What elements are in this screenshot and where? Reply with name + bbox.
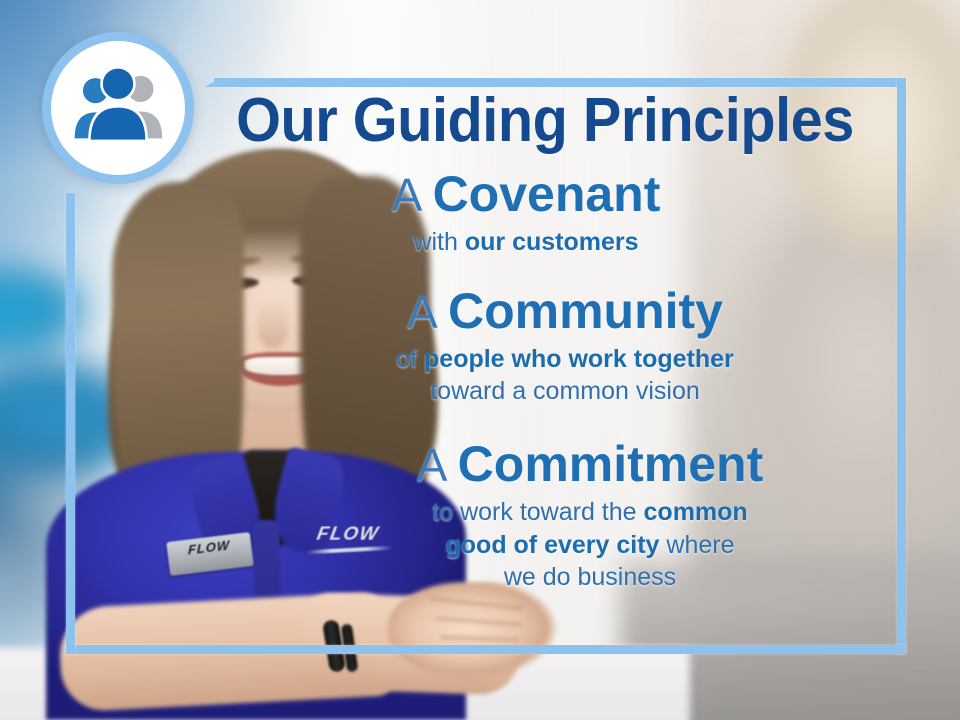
community-sub-line-2: toward a common vision [240, 375, 890, 407]
guiding-principles-graphic: FLOW FLOW Our Gui [0, 0, 960, 720]
principle-commitment-heading: A Commitment [290, 437, 890, 492]
group-of-people-badge [42, 32, 194, 184]
principle-community-article: A [407, 286, 448, 338]
clasped-hands [388, 582, 558, 678]
principle-community-subtext: of people who work together toward a com… [240, 343, 890, 407]
covenant-sub-regular: with [413, 228, 464, 256]
covenant-sub-bold: our customers [465, 228, 639, 256]
commitment-sub-line-2: good of every city where [290, 529, 890, 562]
group-of-people-icon [66, 56, 170, 160]
principle-commitment-article: A [417, 439, 458, 491]
community-sub-regular: of [396, 345, 424, 373]
principle-commitment: A Commitment to work toward the common g… [200, 437, 890, 594]
text-block: Our Guiding Principles A Covenant with o… [200, 88, 890, 594]
commitment-sub-regular-1: to work toward the [432, 498, 643, 526]
commitment-sub-bold-1: common [644, 498, 748, 526]
commitment-sub-regular-2: where [659, 531, 734, 559]
principle-covenant-article: A [392, 169, 433, 221]
community-sub-bold: people who work together [424, 345, 734, 373]
principle-community-noun: Community [448, 283, 723, 339]
commitment-sub-bold-2: good of every city [446, 531, 660, 559]
principle-community: A Community of people who work together … [200, 284, 890, 407]
community-sub-line-1: of people who work together [240, 343, 890, 375]
page-title: Our Guiding Principles [224, 88, 866, 153]
commitment-sub-line-3: we do business [290, 561, 890, 594]
principle-covenant: A Covenant with our customers [200, 167, 890, 258]
principle-covenant-noun: Covenant [433, 166, 661, 222]
principle-commitment-noun: Commitment [458, 436, 764, 492]
principle-community-heading: A Community [240, 284, 890, 339]
principle-commitment-subtext: to work toward the common good of every … [290, 496, 890, 594]
principle-covenant-subtext: with our customers [200, 226, 852, 258]
principle-covenant-heading: A Covenant [200, 167, 852, 222]
commitment-sub-line-1: to work toward the common [290, 496, 890, 529]
